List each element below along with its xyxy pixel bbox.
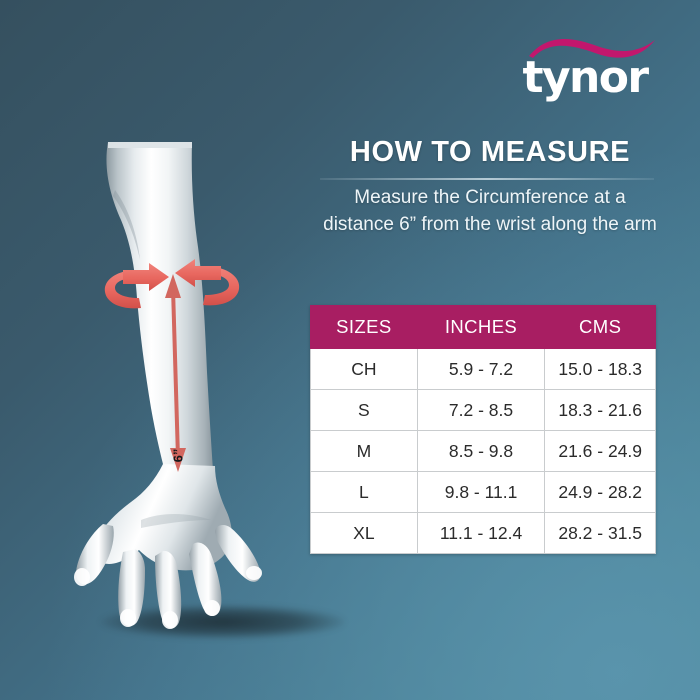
ring-finger-nail xyxy=(204,600,220,616)
arm-cut-edge xyxy=(108,142,192,148)
logo-wordmark: tynor xyxy=(505,52,665,104)
table-row: XL 11.1 - 12.4 28.2 - 31.5 xyxy=(311,513,656,554)
table-header-row: SIZES INCHES CMS xyxy=(311,306,656,349)
cell-cms: 21.6 - 24.9 xyxy=(545,431,656,472)
little-finger-nail xyxy=(246,566,262,580)
cell-inches: 8.5 - 9.8 xyxy=(417,431,545,472)
cell-cms: 28.2 - 31.5 xyxy=(545,513,656,554)
column-header-sizes: SIZES xyxy=(311,306,418,349)
page-title: HOW TO MEASURE xyxy=(300,136,680,169)
size-chart-graphic: tynor HOW TO MEASURE Measure the Circumf… xyxy=(0,0,700,700)
page-subtitle-line-1: Measure the Circumference at a xyxy=(282,184,698,211)
thumb-nail xyxy=(74,568,90,586)
cell-size: CH xyxy=(311,349,418,390)
column-header-inches: INCHES xyxy=(417,306,545,349)
table-row: S 7.2 - 8.5 18.3 - 21.6 xyxy=(311,390,656,431)
table-row: L 9.8 - 11.1 24.9 - 28.2 xyxy=(311,472,656,513)
title-divider xyxy=(320,178,654,180)
cell-inches: 5.9 - 7.2 xyxy=(417,349,545,390)
size-chart-table: SIZES INCHES CMS CH 5.9 - 7.2 15.0 - 18.… xyxy=(310,305,656,554)
cell-inches: 7.2 - 8.5 xyxy=(417,390,545,431)
cell-size: L xyxy=(311,472,418,513)
mannequin-arm-graphic xyxy=(45,120,305,640)
distance-label: 6” xyxy=(170,449,185,463)
column-header-cms: CMS xyxy=(545,306,656,349)
cell-inches: 9.8 - 11.1 xyxy=(417,472,545,513)
middle-finger-nail xyxy=(162,611,178,629)
table-row: M 8.5 - 9.8 21.6 - 24.9 xyxy=(311,431,656,472)
cell-cms: 18.3 - 21.6 xyxy=(545,390,656,431)
cell-size: M xyxy=(311,431,418,472)
page-subtitle: Measure the Circumference at a distance … xyxy=(282,184,698,238)
cell-size: XL xyxy=(311,513,418,554)
tynor-logo: tynor xyxy=(505,34,665,104)
cell-inches: 11.1 - 12.4 xyxy=(417,513,545,554)
cell-cms: 24.9 - 28.2 xyxy=(545,472,656,513)
page-subtitle-line-2: distance 6” from the wrist along the arm xyxy=(282,211,698,238)
index-finger-nail xyxy=(120,609,136,627)
cell-size: S xyxy=(311,390,418,431)
arm-illustration: 6” xyxy=(45,120,305,640)
cell-cms: 15.0 - 18.3 xyxy=(545,349,656,390)
table-row: CH 5.9 - 7.2 15.0 - 18.3 xyxy=(311,349,656,390)
